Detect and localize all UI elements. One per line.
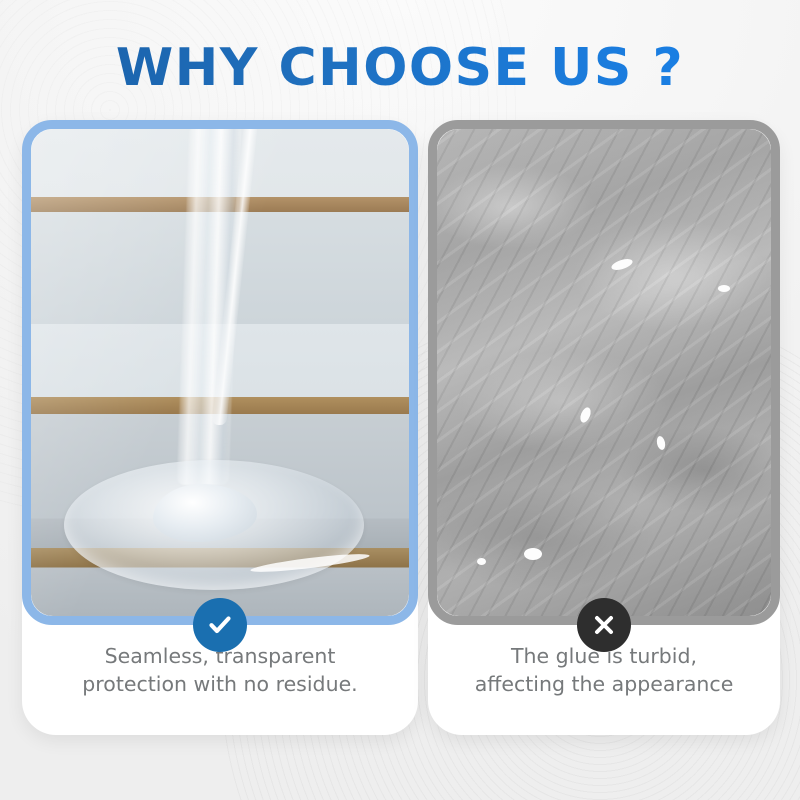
highlight-speck — [477, 558, 486, 565]
highlight-speck — [718, 285, 730, 292]
turbid-glue-texture — [437, 129, 771, 616]
caption-line-2: affecting the appearance — [428, 670, 780, 698]
photo-clear-glue — [31, 129, 409, 616]
page-title: WHY CHOOSE US ? — [0, 38, 800, 98]
caption-line-2: protection with no residue. — [22, 670, 418, 698]
photo-turbid-glue — [437, 129, 771, 616]
photo-frame-con — [428, 120, 780, 625]
photo-frame-pro — [22, 120, 418, 625]
cross-icon — [577, 598, 631, 652]
promo-banner: WHY CHOOSE US ? Seamless, transparent pr… — [0, 0, 800, 800]
check-icon — [193, 598, 247, 652]
highlight-speck — [524, 548, 542, 560]
